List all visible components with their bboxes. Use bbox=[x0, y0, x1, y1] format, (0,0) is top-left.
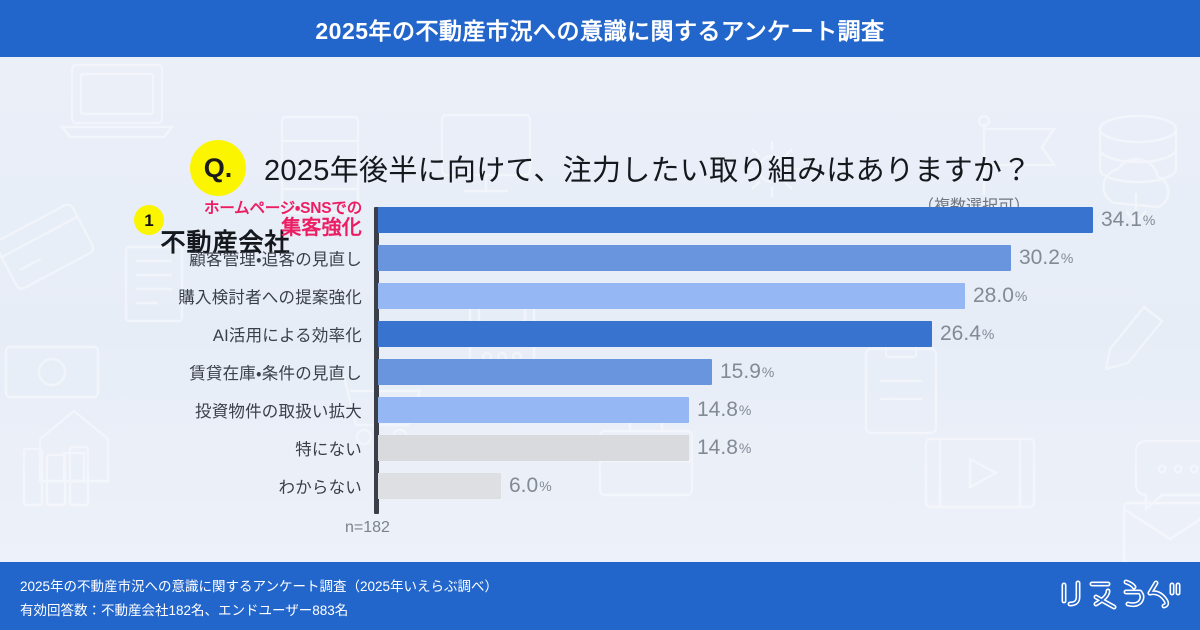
bar bbox=[378, 245, 1011, 271]
percent-sign: % bbox=[1015, 288, 1027, 304]
bar bbox=[378, 435, 689, 461]
bar-value: 14.8% bbox=[697, 397, 751, 423]
bar-value-number: 34.1 bbox=[1101, 208, 1142, 232]
bar-label: ホームページ・SNSでの 集客強化 bbox=[32, 198, 362, 242]
bar-value: 26.4% bbox=[940, 321, 994, 347]
logo-mark bbox=[1056, 577, 1182, 615]
bar-value-number: 6.0 bbox=[509, 474, 538, 498]
footer-line-1: 2025年の不動産市況への意識に関するアンケート調査（2025年いえらぶ調べ） bbox=[20, 575, 498, 599]
percent-sign: % bbox=[1143, 212, 1155, 228]
percent-sign: % bbox=[1061, 250, 1073, 266]
percent-sign: % bbox=[739, 440, 751, 456]
bar bbox=[378, 473, 501, 499]
table-row: 顧客管理・追客の見直し 30.2% bbox=[0, 245, 1200, 283]
bar bbox=[378, 321, 932, 347]
percent-sign: % bbox=[739, 402, 751, 418]
bar-label-line2: 集客強化 bbox=[281, 218, 362, 239]
table-row: 賃貸在庫・条件の見直し 15.9% bbox=[0, 359, 1200, 397]
bar-value-number: 14.8 bbox=[697, 398, 738, 422]
bar-chart: n=182 1 ホームページ・SNSでの 集客強化 34.1% 顧客管理・追客の… bbox=[0, 57, 1200, 562]
percent-sign: % bbox=[762, 364, 774, 380]
page-title: 2025年の不動産市況への意識に関するアンケート調査 bbox=[315, 12, 884, 46]
bar-label: 賃貸在庫・条件の見直し bbox=[32, 359, 362, 385]
percent-sign: % bbox=[982, 326, 994, 342]
bar-value-number: 15.9 bbox=[720, 360, 761, 384]
bar-value: 34.1% bbox=[1101, 207, 1155, 233]
bar-value-number: 30.2 bbox=[1019, 246, 1060, 270]
table-row: 1 ホームページ・SNSでの 集客強化 34.1% bbox=[0, 207, 1200, 245]
table-row: 特にない 14.8% bbox=[0, 435, 1200, 473]
percent-sign: % bbox=[539, 478, 551, 494]
bar-value: 28.0% bbox=[973, 283, 1027, 309]
table-row: 購入検討者への提案強化 28.0% bbox=[0, 283, 1200, 321]
page-header: 2025年の不動産市況への意識に関するアンケート調査 bbox=[0, 0, 1200, 57]
page-footer: 2025年の不動産市況への意識に関するアンケート調査（2025年いえらぶ調べ） … bbox=[0, 562, 1200, 630]
bar-label: 顧客管理・追客の見直し bbox=[32, 245, 362, 271]
chart-rows: 1 ホームページ・SNSでの 集客強化 34.1% 顧客管理・追客の見直し 30… bbox=[0, 207, 1200, 511]
bar-value: 6.0% bbox=[509, 473, 552, 499]
bar bbox=[378, 207, 1093, 233]
bar-value-number: 28.0 bbox=[973, 284, 1014, 308]
bar-label: 投資物件の取扱い拡大 bbox=[32, 397, 362, 423]
bar-label-line1: ホームページ・SNSでの bbox=[204, 201, 362, 217]
footer-text: 2025年の不動産市況への意識に関するアンケート調査（2025年いえらぶ調べ） … bbox=[20, 575, 498, 622]
bar-label: AI活用による効率化 bbox=[32, 321, 362, 347]
bar bbox=[378, 397, 689, 423]
sample-size-label: n=182 bbox=[345, 519, 390, 537]
table-row: AI活用による効率化 26.4% bbox=[0, 321, 1200, 359]
bar-value-number: 14.8 bbox=[697, 436, 738, 460]
bar-value: 15.9% bbox=[720, 359, 774, 385]
bar-label: 特にない bbox=[32, 435, 362, 461]
bar bbox=[378, 359, 712, 385]
bar bbox=[378, 283, 965, 309]
content-area: Q. 2025年後半に向けて、注力したい取り組みはありますか？ （複数選択可） … bbox=[0, 57, 1200, 562]
ielove-logo[interactable] bbox=[1056, 578, 1182, 614]
bar-label: わからない bbox=[32, 473, 362, 499]
bar-value-number: 26.4 bbox=[940, 322, 981, 346]
table-row: 投資物件の取扱い拡大 14.8% bbox=[0, 397, 1200, 435]
bar-value: 30.2% bbox=[1019, 245, 1073, 271]
bar-value: 14.8% bbox=[697, 435, 751, 461]
bar-label: 購入検討者への提案強化 bbox=[32, 283, 362, 309]
table-row: わからない 6.0% bbox=[0, 473, 1200, 511]
footer-line-2: 有効回答数：不動産会社182名、エンドユーザー883名 bbox=[20, 599, 498, 623]
